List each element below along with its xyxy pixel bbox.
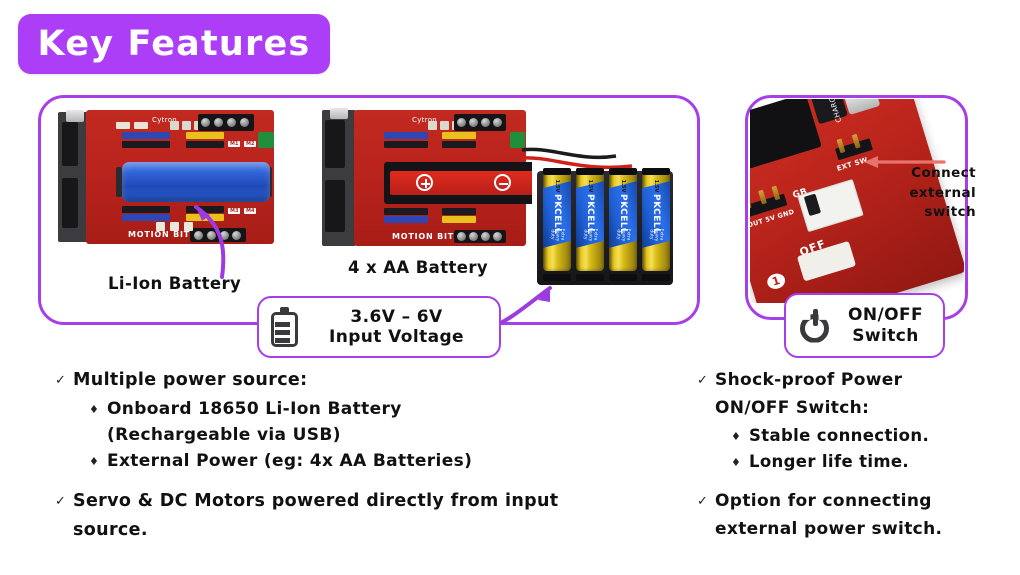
aa-cell: PKCELL Extra heavy duty 1.5V — [543, 169, 571, 271]
battery-icon — [271, 307, 298, 347]
features-left-column: ✓ Multiple power source: ♦ Onboard 18650… — [55, 368, 675, 547]
caption-aa-battery: 4 x AA Battery — [348, 258, 488, 277]
page-title: Key Features — [18, 14, 330, 74]
feature-item: ON/OFF Switch: — [715, 396, 1007, 420]
aa-voltage-label: 1.5V — [587, 174, 593, 198]
badge-switch-line2: Switch — [842, 326, 929, 346]
caption-liion-battery: Li-Ion Battery — [108, 274, 241, 293]
board-name-silk: MOTION BIT — [128, 230, 190, 239]
liion-cell — [122, 162, 270, 202]
aa-sub-label: Extra heavy duty — [583, 223, 598, 247]
aa-voltage-label: 1.5V — [554, 174, 560, 198]
feature-item: external power switch. — [715, 517, 1007, 541]
feature-item: ♦ Longer life time. — [731, 450, 1007, 473]
badge-switch-line1: ON/OFF — [842, 305, 929, 325]
slide-root: Key Features Cytron — [0, 0, 1020, 575]
caption-connect-external-switch: Connect external switch — [890, 164, 976, 223]
feature-text: external power switch. — [715, 517, 942, 541]
badge-voltage-line1: 3.6V – 6V — [308, 307, 485, 327]
aa-cell: PKCELL Extra heavy duty 1.5V — [642, 169, 670, 271]
feature-text: Stable connection. — [749, 424, 929, 447]
feature-item: ✓ Option for connecting — [697, 489, 1007, 513]
diamond-bullet-icon: ♦ — [89, 449, 107, 471]
aa-voltage-label: 1.5V — [653, 174, 659, 198]
aa-cell: PKCELL Extra heavy duty 1.5V — [609, 169, 637, 271]
aa-sub-label: Extra heavy duty — [616, 223, 631, 247]
feature-text: Option for connecting — [715, 489, 932, 513]
feature-item: source. — [73, 518, 675, 543]
aa-sub-label: Extra heavy duty — [649, 223, 664, 247]
feature-text: Servo & DC Motors powered directly from … — [73, 489, 559, 514]
slide-switch[interactable] — [797, 179, 864, 232]
diamond-bullet-icon: ♦ — [89, 397, 107, 419]
feature-item: ✓ Servo & DC Motors powered directly fro… — [55, 489, 675, 514]
feature-text: ON/OFF Switch: — [715, 396, 869, 420]
feature-text: source. — [73, 518, 148, 543]
feature-item: ♦ Stable connection. — [731, 424, 1007, 447]
badge-voltage-line2: Input Voltage — [308, 327, 485, 347]
feature-text: Shock-proof Power — [715, 368, 902, 392]
feature-item: (Rechargeable via USB) — [107, 423, 675, 447]
motor-label-m1: M1 — [228, 141, 240, 147]
polarity-minus-icon — [494, 174, 511, 191]
photo-aa-board: Cytron — [322, 108, 532, 248]
check-icon: ✓ — [697, 368, 715, 391]
spacer — [697, 475, 1007, 489]
motor-label-m3: M3 — [228, 208, 240, 214]
aa-sub-label: Extra heavy duty — [550, 223, 565, 247]
page-title-text: Key Features — [38, 24, 311, 64]
badge-onoff-switch: ON/OFF Switch — [784, 293, 945, 358]
features-right-column: ✓ Shock-proof Power ON/OFF Switch: ♦ Sta… — [697, 368, 1007, 545]
photo-liion-board: Cytron M1 M2 — [58, 108, 286, 246]
feature-text: External Power (eg: 4x AA Batteries) — [107, 449, 472, 473]
aa-brand-label: PKCELL — [618, 194, 628, 222]
feature-item: ♦ External Power (eg: 4x AA Batteries) — [89, 449, 675, 473]
motor-label-m2: M2 — [244, 141, 256, 147]
feature-text: (Rechargeable via USB) — [107, 423, 341, 447]
aa-brand-label: PKCELL — [651, 194, 661, 222]
photo-aa-pack: PKCELL Extra heavy duty 1.5V PKCELL Extr… — [537, 163, 673, 285]
polarity-plus-icon — [416, 174, 433, 191]
battery-holder — [384, 162, 532, 204]
spacer — [55, 475, 675, 489]
diamond-bullet-icon: ♦ — [731, 450, 749, 472]
aa-brand-label: PKCELL — [585, 194, 595, 222]
diamond-bullet-icon: ♦ — [731, 424, 749, 446]
check-icon: ✓ — [55, 368, 73, 391]
check-icon: ✓ — [55, 489, 73, 512]
feature-text: Onboard 18650 Li-Ion Battery — [107, 397, 402, 421]
power-icon — [798, 308, 832, 344]
feature-item: ✓ Multiple power source: — [55, 368, 675, 393]
feature-text: Longer life time. — [749, 450, 909, 473]
aa-voltage-label: 1.5V — [620, 174, 626, 198]
aa-brand-label: PKCELL — [552, 194, 562, 222]
feature-item: ♦ Onboard 18650 Li-Ion Battery — [89, 397, 675, 421]
check-icon: ✓ — [697, 489, 715, 512]
feature-item: ✓ Shock-proof Power — [697, 368, 1007, 392]
motor-label-m4: M4 — [244, 208, 256, 214]
board-name-silk-aa: MOTION BIT — [392, 232, 454, 241]
silk-number: 1 — [765, 271, 787, 291]
feature-text: Multiple power source: — [73, 368, 308, 393]
aa-cell: PKCELL Extra heavy duty 1.5V — [576, 169, 604, 271]
badge-input-voltage: 3.6V – 6V Input Voltage — [257, 296, 501, 358]
